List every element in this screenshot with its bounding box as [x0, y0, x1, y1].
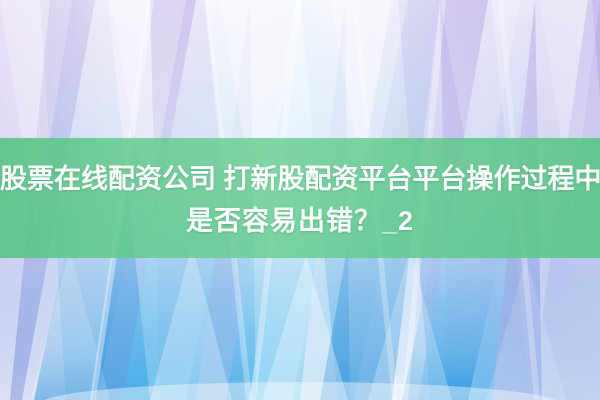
headline-text: 股票在线配资公司 打新股配资平台平台操作过程中 是否容易出错？_2: [0, 158, 600, 242]
headline-line-1: 股票在线配资公司 打新股配资平台平台操作过程中: [0, 158, 600, 200]
promo-banner: 股票在线配资公司 打新股配资平台平台操作过程中 是否容易出错？_2: [0, 0, 600, 400]
headline-line-2: 是否容易出错？_2: [0, 200, 600, 242]
